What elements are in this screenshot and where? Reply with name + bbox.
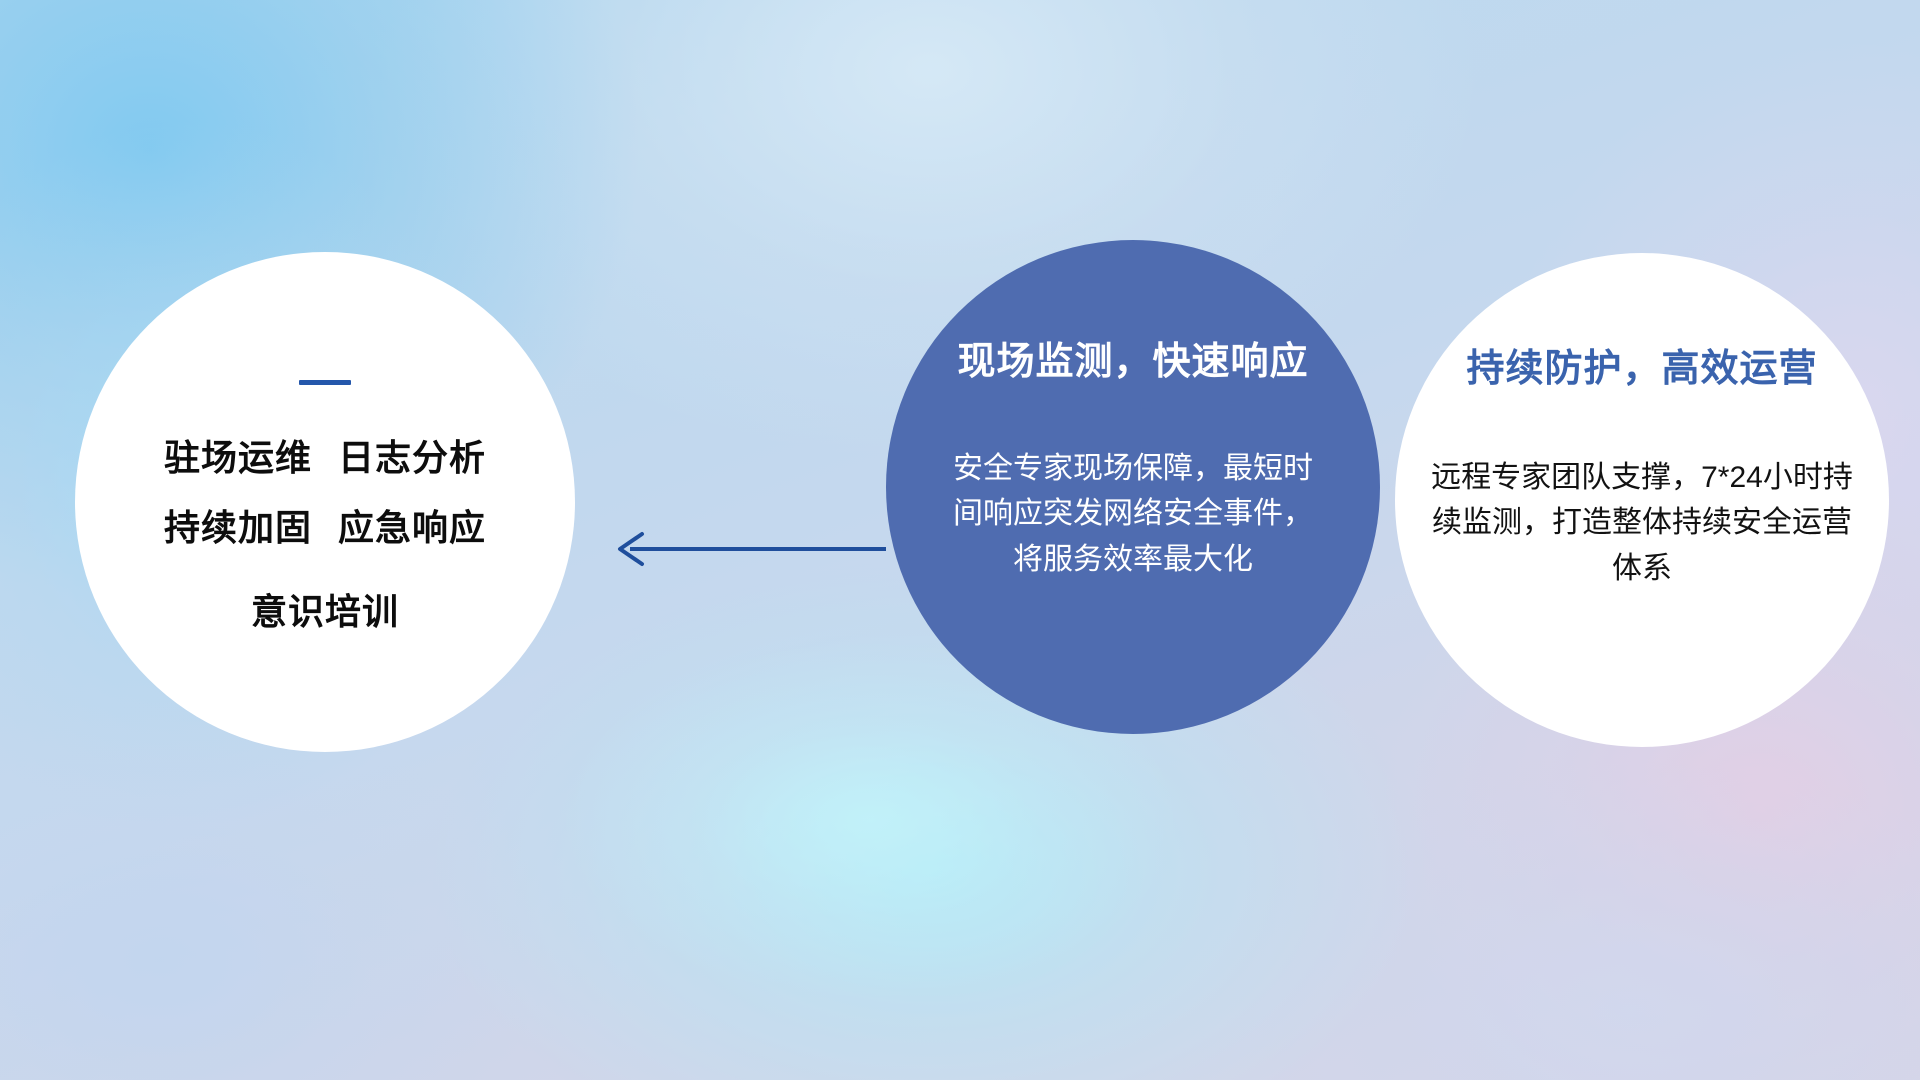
capability-label-log-analysis: 日志分析 xyxy=(338,437,486,478)
accent-dash-icon xyxy=(299,380,351,385)
connector-arrow xyxy=(608,528,888,570)
capability-label-continuous-hardening: 持续加固 xyxy=(164,507,312,548)
continuous-protection-circle-content: 持续防护，高效运营 远程专家团队支撑，7*24小时持续监测，打造整体持续安全运营… xyxy=(1395,253,1889,747)
capability-label-emergency-response: 应急响应 xyxy=(338,507,486,548)
continuous-protection-title: 持续防护，高效运营 xyxy=(1466,349,1817,391)
capability-row-2: 持续加固应急响应 xyxy=(164,510,486,546)
onsite-monitoring-circle-content: 现场监测，快速响应 安全专家现场保障，最短时间响应突发网络安全事件，将服务效率最… xyxy=(886,240,1380,734)
capability-label-awareness-training: 意识培训 xyxy=(251,594,399,630)
continuous-protection-body: 远程专家团队支撑，7*24小时持续监测，打造整体持续安全运营体系 xyxy=(1427,455,1857,592)
slide-canvas: 驻场运维日志分析 持续加固应急响应 意识培训 现场监测，快速响应 安全专家现场保… xyxy=(0,0,1920,1080)
capabilities-circle-content: 驻场运维日志分析 持续加固应急响应 意识培训 xyxy=(75,252,575,752)
capability-label-onsite-ops: 驻场运维 xyxy=(164,437,312,478)
left-pointing-arrow-icon xyxy=(608,528,888,570)
onsite-monitoring-title: 现场监测，快速响应 xyxy=(957,342,1308,384)
capability-row-1: 驻场运维日志分析 xyxy=(164,440,486,476)
onsite-monitoring-body: 安全专家现场保障，最短时间响应突发网络安全事件，将服务效率最大化 xyxy=(940,446,1326,583)
